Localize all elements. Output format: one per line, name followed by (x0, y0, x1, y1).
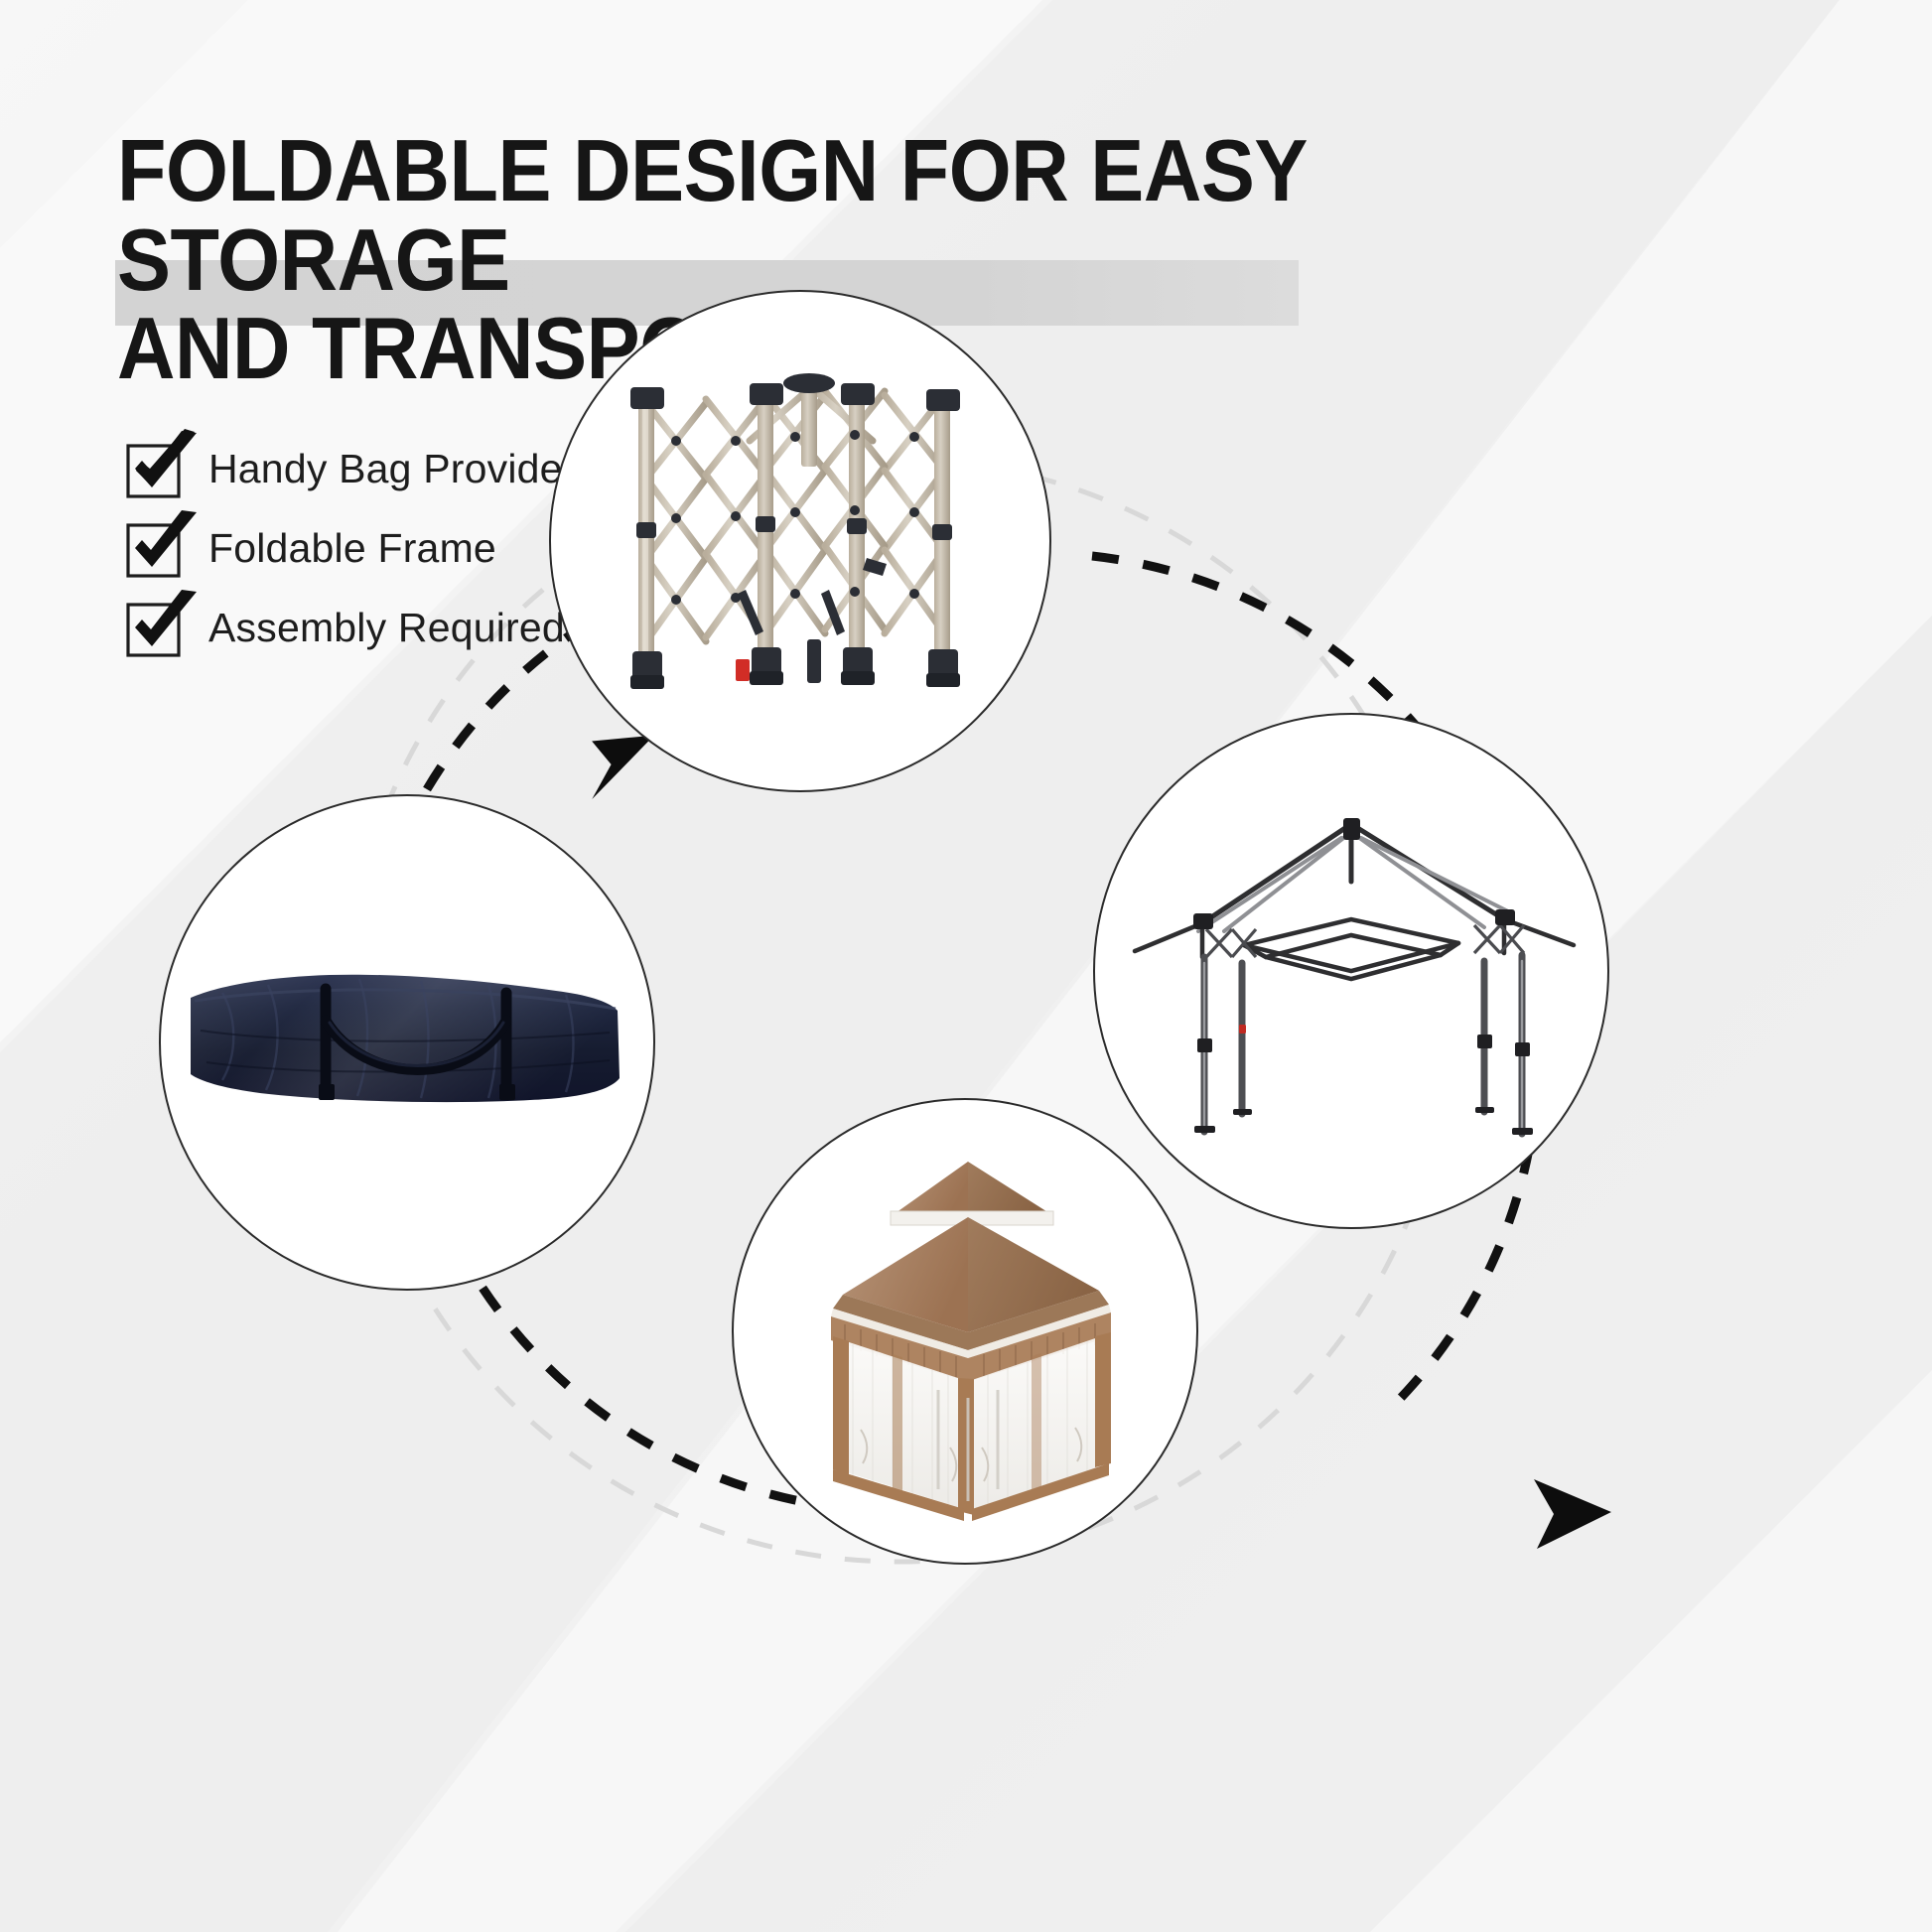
feature-list: Handy Bag Provided Foldable Frame Assemb… (127, 429, 586, 667)
arrow-to-gazebo (1534, 1479, 1611, 1549)
feature-item-handy-bag-provided: Handy Bag Provided (127, 429, 586, 508)
feature-item-assembly-required: Assembly Required (127, 588, 586, 667)
carry-bag-illustration (161, 796, 655, 1291)
feature-item-foldable-frame: Foldable Frame (127, 508, 586, 588)
red-button (1239, 1025, 1246, 1034)
canopy-top-tier-left (893, 1162, 968, 1215)
product-image-folded-frame (549, 290, 1051, 792)
checkbox-checked-icon (127, 522, 183, 574)
checkbox-checked-icon (127, 602, 183, 653)
feature-label: Handy Bag Provided (208, 446, 586, 492)
gazebo-illustration (734, 1100, 1198, 1565)
checkbox-checked-icon (127, 443, 183, 494)
red-release-tab (736, 659, 750, 681)
feature-label: Assembly Required (208, 605, 565, 651)
folded-frame-illustration (551, 292, 1051, 792)
canopy-top-tier-right (968, 1162, 1049, 1215)
feature-label: Foldable Frame (208, 525, 496, 572)
product-image-assembled-gazebo (732, 1098, 1198, 1565)
product-image-carry-bag (159, 794, 655, 1291)
